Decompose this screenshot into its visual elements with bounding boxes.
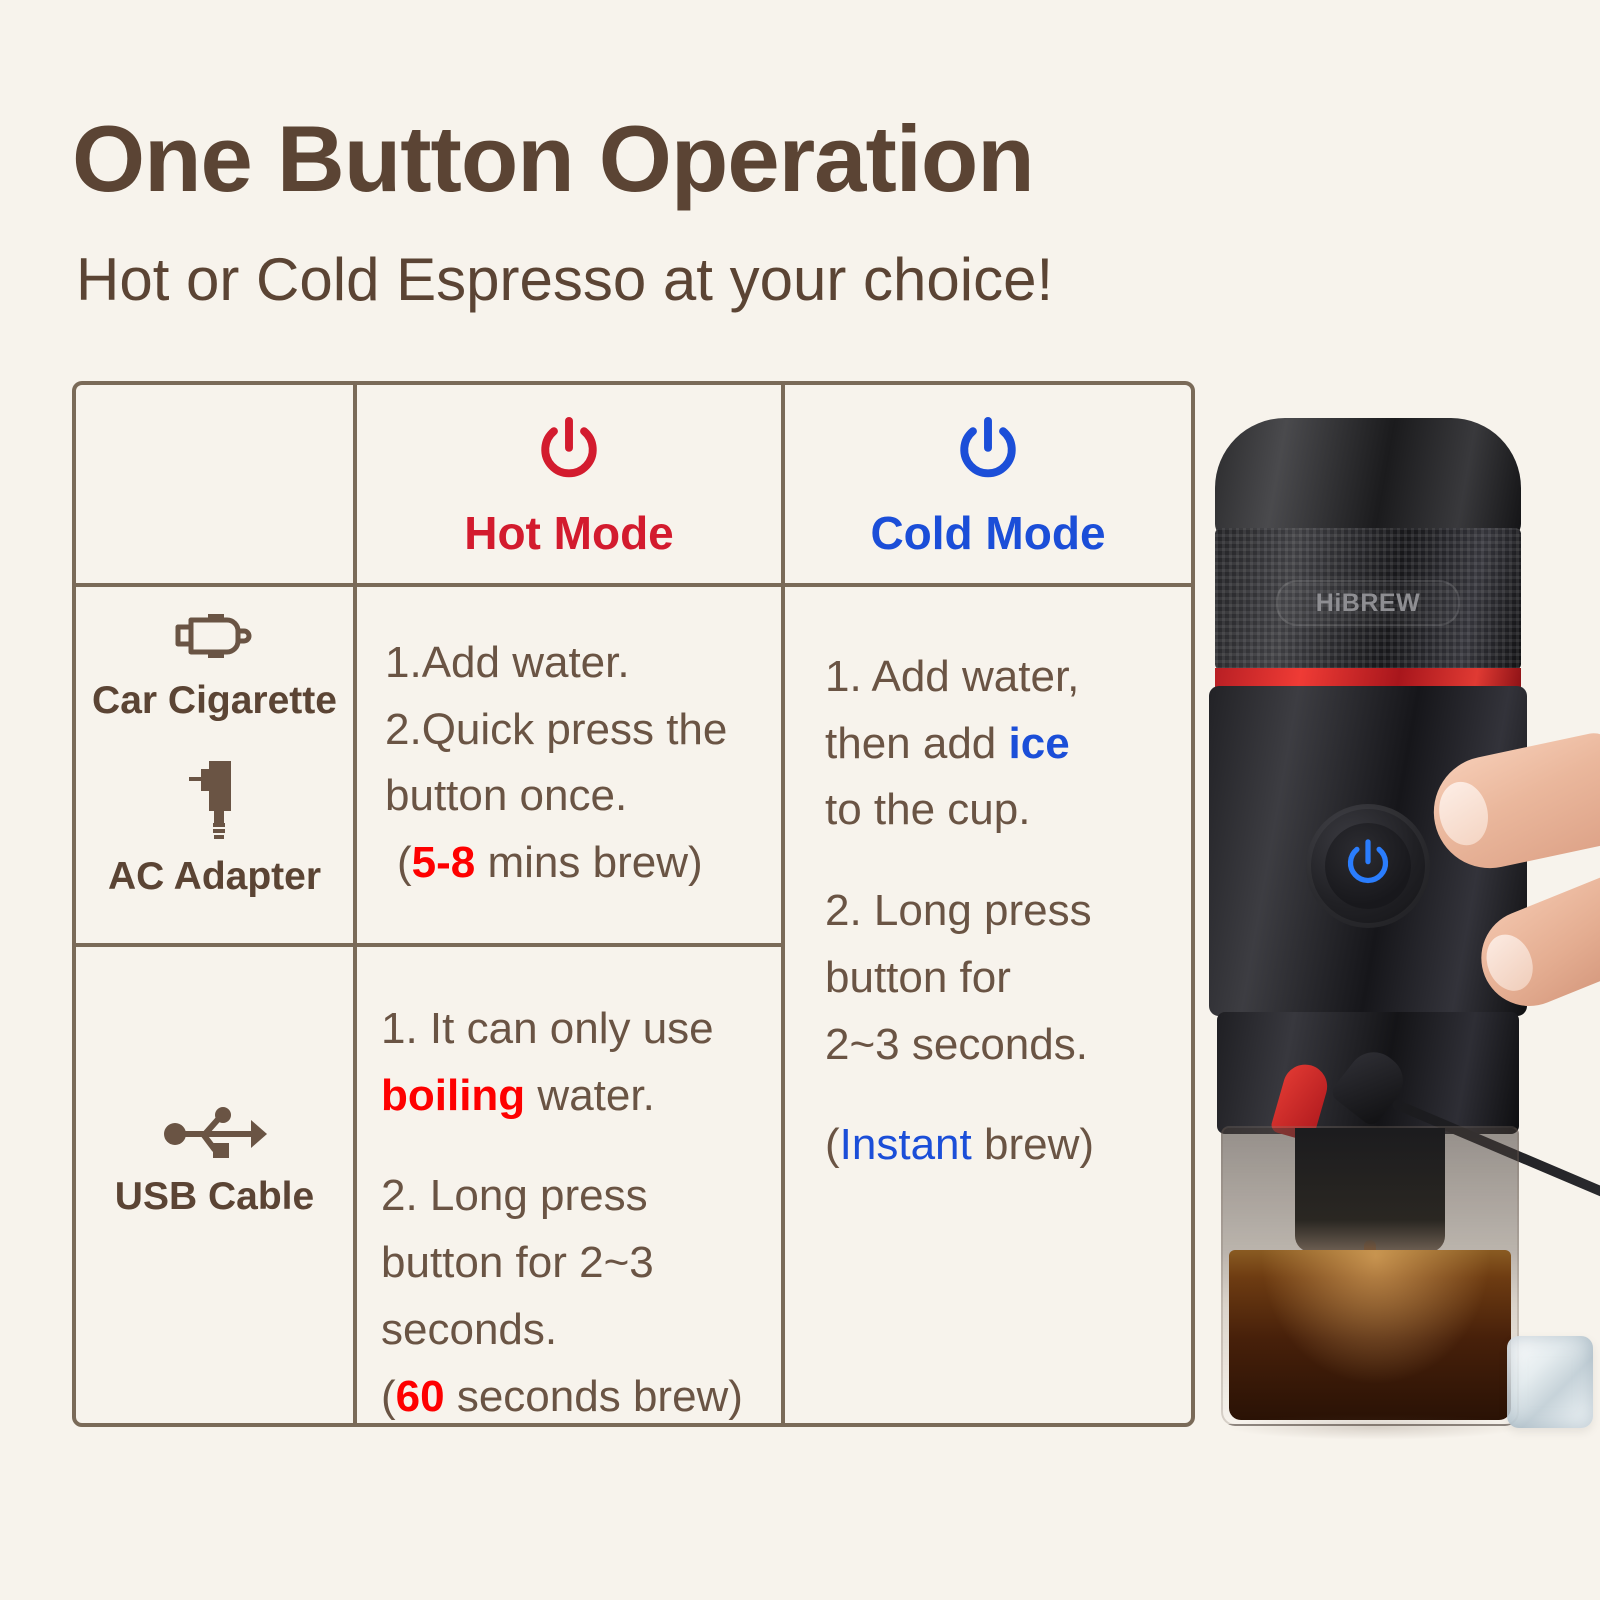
source-ac-adapter: AC Adapter	[76, 757, 353, 899]
instruction-line: button for 2~3	[381, 1233, 781, 1294]
cold-mode-label: Cold Mode	[870, 510, 1105, 556]
product-photo: HiBREW	[1195, 400, 1600, 1460]
instruction-line: button for	[825, 948, 1191, 1009]
power-icon	[950, 413, 1026, 494]
brew-time-note: (60 seconds brew)	[381, 1367, 781, 1428]
charging-plug	[1329, 1042, 1414, 1128]
instruction-line: 2~3 seconds.	[825, 1015, 1191, 1076]
source-usb-cable: USB Cable	[76, 1107, 353, 1219]
page-subtitle: Hot or Cold Espresso at your choice!	[76, 250, 1053, 310]
spacer	[825, 1081, 1191, 1115]
brew-time-value: 60	[396, 1372, 445, 1421]
instruction-line: to the cup.	[825, 780, 1191, 841]
usb-icon	[163, 1148, 267, 1165]
source-car-cigarette: Car Cigarette	[76, 607, 353, 723]
fingernail	[1433, 777, 1493, 850]
brew-time-value: 5-8	[412, 838, 476, 887]
iced-coffee-liquid	[1229, 1250, 1511, 1420]
instruction-line: 1.Add water.	[385, 633, 781, 694]
brew-basket	[1295, 1126, 1445, 1252]
brew-time-value: Instant	[840, 1120, 972, 1169]
page-title: One Button Operation	[72, 112, 1034, 206]
brew-time-note: (Instant brew)	[825, 1115, 1191, 1176]
power-icon	[531, 413, 607, 494]
boiling-highlight: boiling	[381, 1071, 525, 1120]
power-button[interactable]	[1306, 804, 1430, 928]
header-cell-cold-mode: Cold Mode	[785, 385, 1191, 583]
product-shadow	[1225, 1414, 1525, 1440]
source-label-ac-adapter: AC Adapter	[76, 856, 353, 899]
brew-time-note: (5-8 mins brew)	[385, 833, 781, 894]
hot-mode-label: Hot Mode	[464, 510, 674, 556]
ice-cube	[1507, 1336, 1593, 1428]
instruction-line: button once.	[385, 766, 781, 827]
power-icon	[1340, 836, 1396, 897]
machine-grip-band: HiBREW	[1215, 528, 1521, 670]
header-cell-source	[76, 385, 353, 583]
hot-instructions-row-2: 1. It can only use boiling water. 2. Lon…	[357, 947, 781, 1423]
car-cigarette-plug-icon	[167, 652, 263, 669]
operation-table: Hot Mode Cold Mode	[72, 381, 1195, 1427]
machine-top-cap	[1215, 418, 1521, 538]
spacer	[825, 847, 1191, 881]
instruction-line-ice: then add ice	[825, 714, 1191, 775]
instruction-line: 1. It can only use	[381, 999, 781, 1060]
hot-instructions-row-1: 1.Add water. 2.Quick press the button on…	[357, 587, 781, 943]
source-label-usb-cable: USB Cable	[76, 1176, 353, 1219]
header-cell-hot-mode: Hot Mode	[357, 385, 781, 583]
source-cell-row-1: Car Cigarette AC Adapter	[76, 587, 353, 943]
brand-logo: HiBREW	[1276, 580, 1460, 626]
source-cell-row-2: USB Cable	[76, 947, 353, 1423]
source-label-car-cigarette: Car Cigarette	[76, 680, 353, 723]
instruction-line: 2. Long press	[825, 881, 1191, 942]
accent-ring	[1215, 668, 1521, 688]
instruction-line-boiling: boiling water.	[381, 1066, 781, 1127]
machine-lower-section	[1217, 1012, 1519, 1134]
ac-adapter-icon	[181, 828, 249, 845]
instruction-line: 1. Add water,	[825, 647, 1191, 708]
spacer	[381, 1132, 781, 1166]
coffee-cup	[1221, 1126, 1519, 1426]
instruction-line: 2.Quick press the	[385, 700, 781, 761]
ice-highlight: ice	[1009, 719, 1070, 768]
power-button-inner	[1325, 823, 1411, 909]
instruction-line: 2. Long press	[381, 1166, 781, 1227]
instruction-line: seconds.	[381, 1300, 781, 1361]
cold-instructions: 1. Add water, then add ice to the cup. 2…	[785, 587, 1191, 1423]
